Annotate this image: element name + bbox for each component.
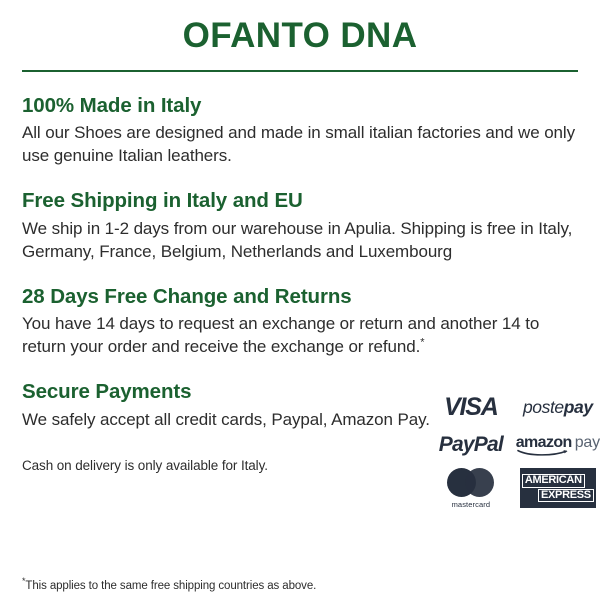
- section-free-shipping: Free Shipping in Italy and EU We ship in…: [22, 189, 578, 263]
- payment-logos: VISA postepay PayPal amazonpay: [430, 388, 600, 512]
- american-express-logo-mark: AMERICAN EXPRESS: [520, 468, 596, 508]
- american-express-logo-text-line2: EXPRESS: [538, 489, 594, 503]
- postepay-logo: postepay: [512, 388, 600, 426]
- section-change-and-returns: 28 Days Free Change and Returns You have…: [22, 285, 578, 359]
- american-express-logo: AMERICAN EXPRESS: [512, 464, 600, 512]
- section-body-change-and-returns-text: You have 14 days to request an exchange …: [22, 314, 539, 356]
- postepay-logo-text: postepay: [523, 397, 593, 418]
- section-made-in-italy: 100% Made in Italy All our Shoes are des…: [22, 94, 578, 168]
- amazon-pay-logo: amazonpay: [512, 426, 600, 464]
- amazon-pay-logo-text-pay: pay: [575, 434, 600, 451]
- cash-on-delivery-note: Cash on delivery is only available for I…: [22, 458, 430, 473]
- section-heading-change-and-returns: 28 Days Free Change and Returns: [22, 285, 578, 310]
- section-body-change-and-returns: You have 14 days to request an exchange …: [22, 313, 578, 359]
- section-heading-secure-payments: Secure Payments: [22, 380, 430, 405]
- section-heading-free-shipping: Free Shipping in Italy and EU: [22, 189, 578, 214]
- paypal-logo-text: PayPal: [439, 433, 503, 457]
- section-body-made-in-italy: All our Shoes are designed and made in s…: [22, 122, 578, 168]
- postepay-logo-text-bold: pay: [564, 397, 593, 417]
- title-divider: [22, 70, 578, 72]
- mastercard-logo-text: mastercard: [452, 500, 491, 509]
- footnote-text: This applies to the same free shipping c…: [25, 580, 316, 592]
- amazon-smile-icon: [517, 449, 569, 456]
- section-body-free-shipping: We ship in 1-2 days from our warehouse i…: [22, 218, 578, 264]
- mastercard-circle-right: [465, 468, 494, 497]
- visa-logo: VISA: [430, 388, 512, 426]
- mastercard-logo-mark: mastercard: [447, 468, 494, 509]
- section-body-secure-payments: We safely accept all credit cards, Paypa…: [22, 409, 430, 432]
- section-secure-payments: Secure Payments We safely accept all cre…: [22, 380, 578, 512]
- american-express-logo-text-line1: AMERICAN: [522, 474, 585, 488]
- page-title: OFANTO DNA: [22, 0, 578, 58]
- asterisk-marker: *: [420, 337, 424, 349]
- visa-logo-text: VISA: [444, 393, 498, 422]
- ofanto-dna-info-panel: OFANTO DNA 100% Made in Italy All our Sh…: [0, 0, 600, 600]
- section-heading-made-in-italy: 100% Made in Italy: [22, 94, 578, 119]
- footnote: *This applies to the same free shipping …: [22, 580, 316, 592]
- amazon-pay-logo-text: amazonpay: [516, 435, 600, 455]
- mastercard-circles-icon: [447, 468, 494, 497]
- postepay-logo-text-light: poste: [523, 397, 564, 417]
- mastercard-logo: mastercard: [430, 464, 512, 512]
- paypal-logo: PayPal: [430, 426, 512, 464]
